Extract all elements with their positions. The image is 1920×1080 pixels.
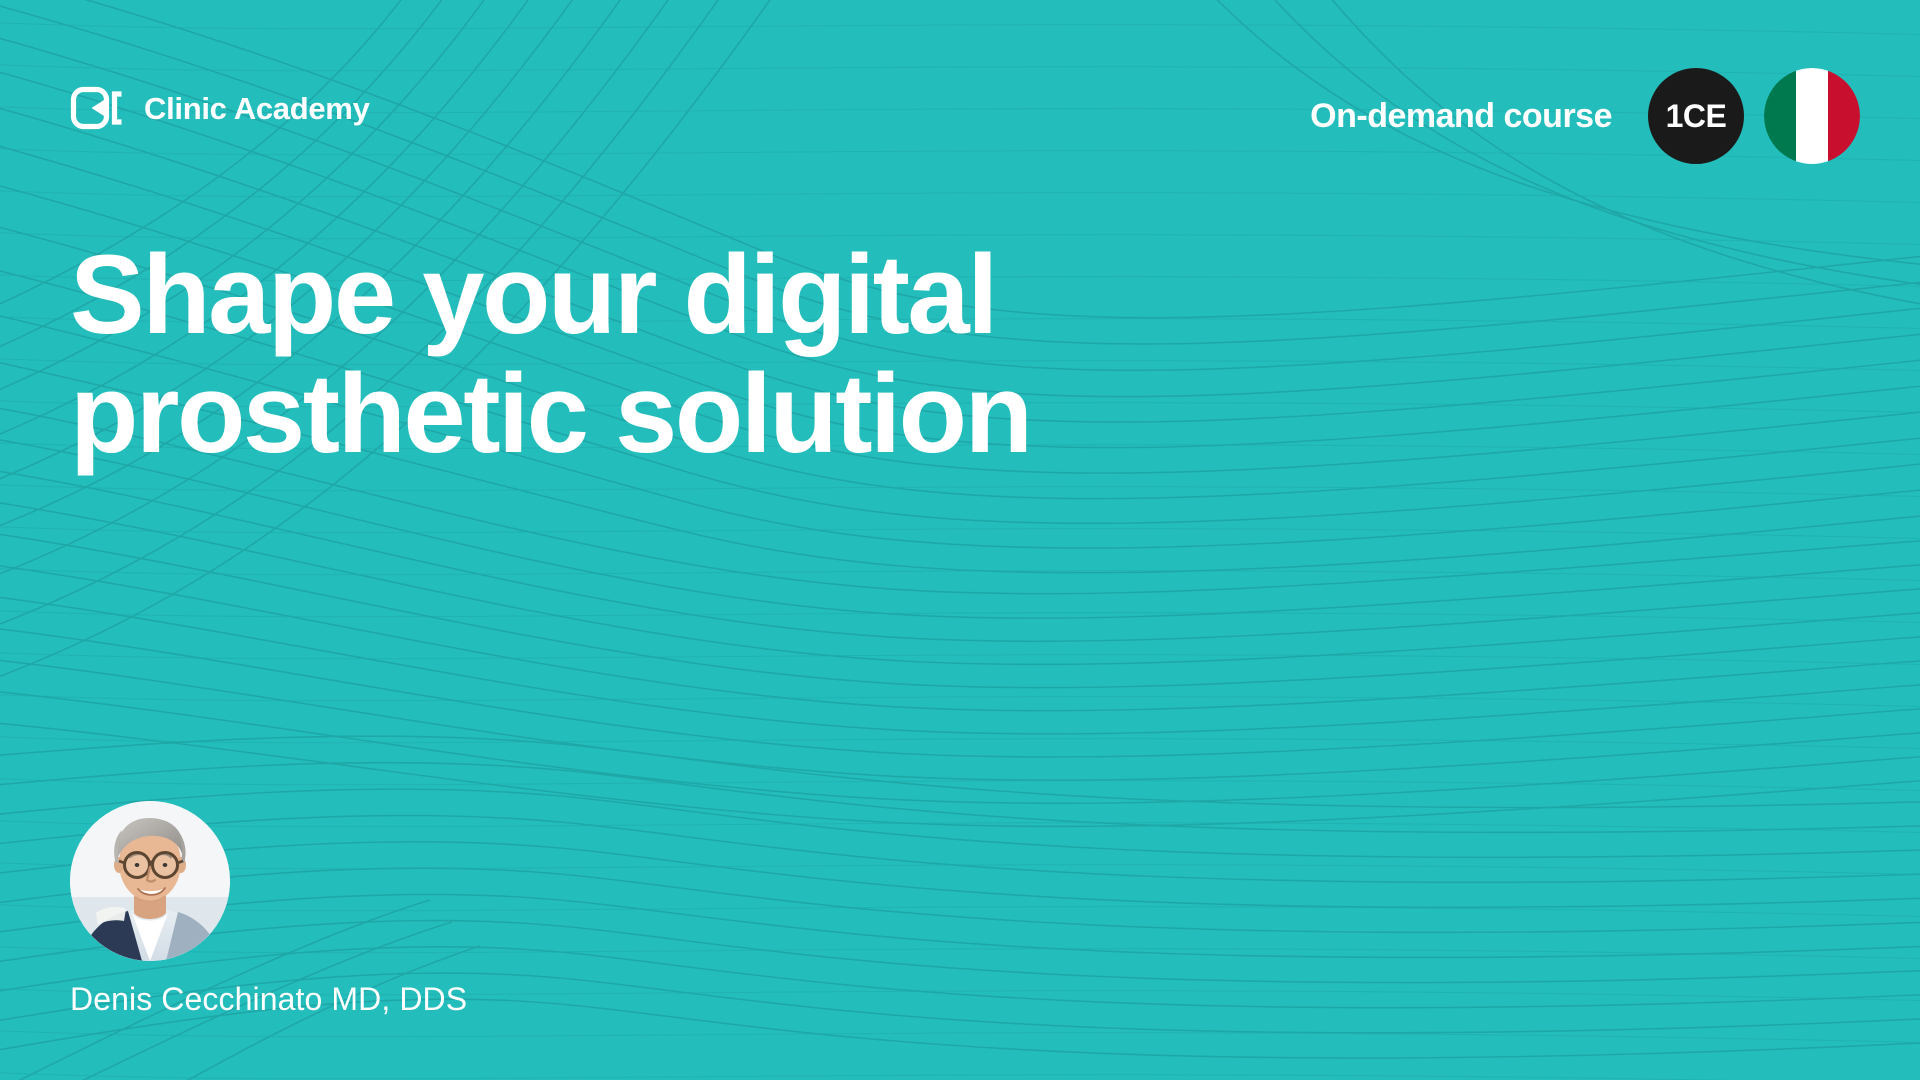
course-title: Shape your digital prosthetic solution [70,236,1250,473]
presenter-portrait [70,801,230,961]
ce-credit-badge: 1CE [1648,68,1744,164]
header-badges: 1CE [1648,68,1860,164]
video-camera-icon [70,86,126,130]
slide-header: Clinic Academy On-demand course 1CE [0,0,1920,200]
brand-logo[interactable]: Clinic Academy [70,86,370,130]
presenter-name: Denis Cecchinato MD, DDS [70,983,467,1015]
presenter-block: Denis Cecchinato MD, DDS [70,801,467,1015]
course-type-label: On-demand course [1310,99,1612,133]
brand-name: Clinic Academy [144,93,370,124]
course-title-slide: Clinic Academy On-demand course 1CE [0,0,1920,1080]
italy-flag-icon [1764,68,1860,164]
header-right-group: On-demand course 1CE [1310,68,1860,164]
ce-credit-label: 1CE [1666,98,1727,135]
